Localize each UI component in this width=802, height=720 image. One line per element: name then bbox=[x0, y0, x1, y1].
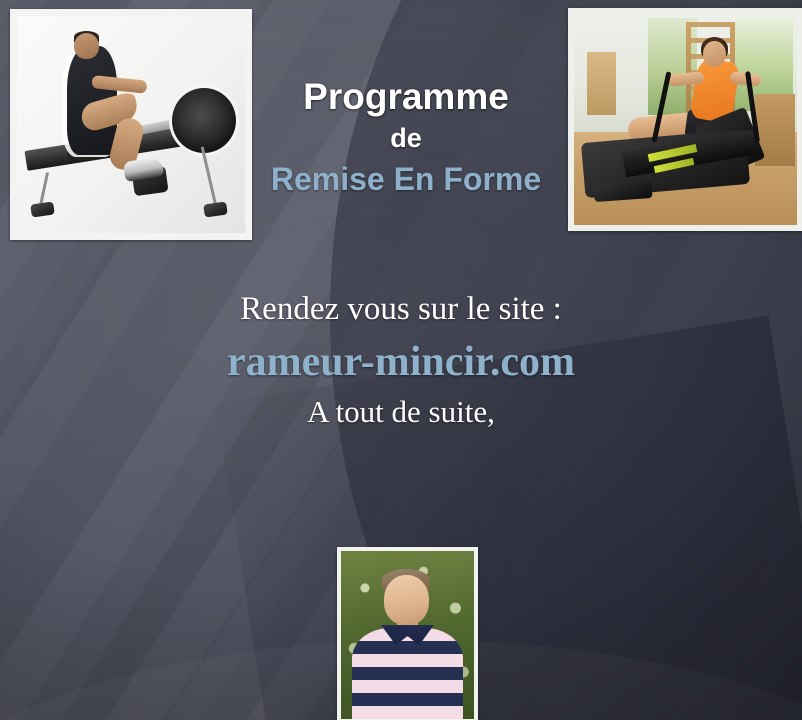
website-url[interactable]: rameur-mincir.com bbox=[121, 336, 681, 388]
title-line-programme: Programme bbox=[248, 76, 564, 118]
woman-rowing-machine-illustration bbox=[574, 14, 797, 225]
title-block: Programme de Remise En Forme bbox=[248, 76, 564, 198]
rowing-machine-man-illustration bbox=[17, 16, 245, 233]
call-to-action-text: Rendez vous sur le site : bbox=[121, 288, 681, 330]
title-line-de: de bbox=[248, 121, 564, 155]
presenter-portrait-illustration bbox=[341, 551, 474, 719]
sign-off-text: A tout de suite, bbox=[121, 392, 681, 432]
presenter-portrait-photo bbox=[337, 547, 478, 720]
body-block: Rendez vous sur le site : rameur-mincir.… bbox=[121, 288, 681, 432]
slide-canvas: Programme de Remise En Forme Rendez vous… bbox=[0, 0, 802, 720]
rowing-machine-man-photo bbox=[10, 9, 252, 240]
woman-rowing-machine-photo bbox=[568, 8, 802, 231]
title-line-remise-en-forme: Remise En Forme bbox=[248, 160, 564, 198]
